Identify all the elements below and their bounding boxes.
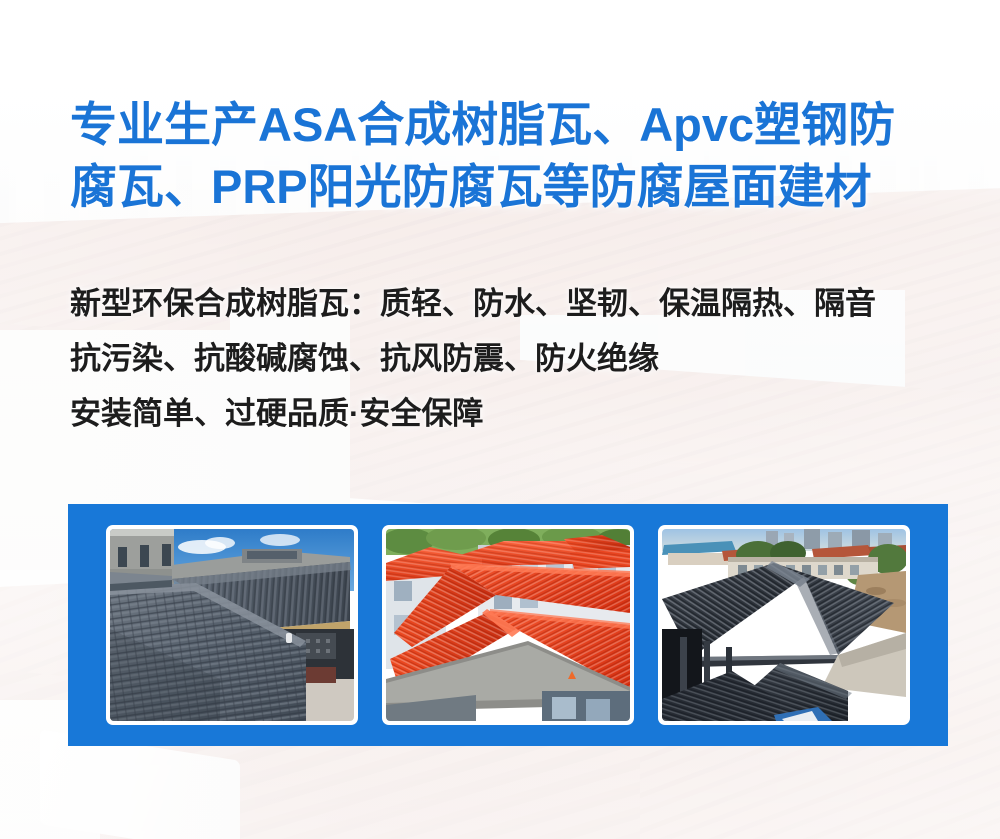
photo-3-dark-roof: [662, 529, 906, 721]
headline-line-2: 腐瓦、PRP阳光防腐瓦等防腐屋面建材: [70, 156, 950, 218]
photo-frame-1[interactable]: [106, 525, 358, 725]
subtitle-line-3: 安装简单、过硬品质·安全保障: [70, 386, 970, 441]
subtitle-line-1: 新型环保合成树脂瓦：质轻、防水、坚韧、保温隔热、隔音: [70, 276, 970, 331]
headline: 专业生产ASA合成树脂瓦、Apvc塑钢防 腐瓦、PRP阳光防腐瓦等防腐屋面建材: [70, 94, 950, 218]
photo-1-grey-roof: [110, 529, 354, 721]
headline-line-1: 专业生产ASA合成树脂瓦、Apvc塑钢防: [70, 94, 950, 156]
photo-frame-3[interactable]: [658, 525, 910, 725]
promo-banner-page: 专业生产ASA合成树脂瓦、Apvc塑钢防 腐瓦、PRP阳光防腐瓦等防腐屋面建材 …: [0, 0, 1000, 839]
subtitle-line-2: 抗污染、抗酸碱腐蚀、抗风防震、防火绝缘: [70, 331, 970, 386]
photo-gallery-banner: [68, 504, 948, 746]
subtitle-block: 新型环保合成树脂瓦：质轻、防水、坚韧、保温隔热、隔音 抗污染、抗酸碱腐蚀、抗风防…: [70, 276, 970, 441]
photo-frame-2[interactable]: [382, 525, 634, 725]
content-layer: 专业生产ASA合成树脂瓦、Apvc塑钢防 腐瓦、PRP阳光防腐瓦等防腐屋面建材 …: [0, 0, 1000, 839]
photo-2-red-roof: [386, 529, 630, 721]
